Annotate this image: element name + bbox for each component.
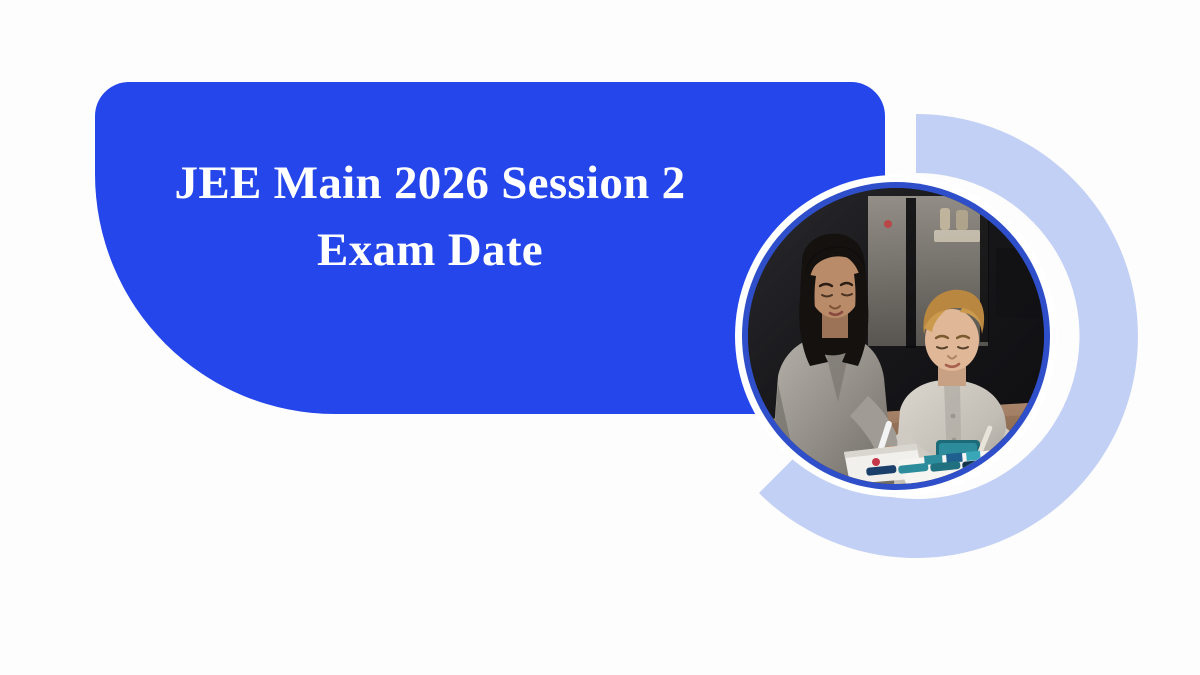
photo-ring [742,182,1050,490]
banner-canvas: JEE Main 2026 Session 2 Exam Date [0,0,1200,675]
photo-illustration [748,188,1044,484]
page-title: JEE Main 2026 Session 2 Exam Date [110,150,750,283]
students-studying-photo [748,188,1044,484]
page-title-line-1: JEE Main 2026 Session 2 [110,150,750,217]
page-title-line-2: Exam Date [110,217,750,284]
